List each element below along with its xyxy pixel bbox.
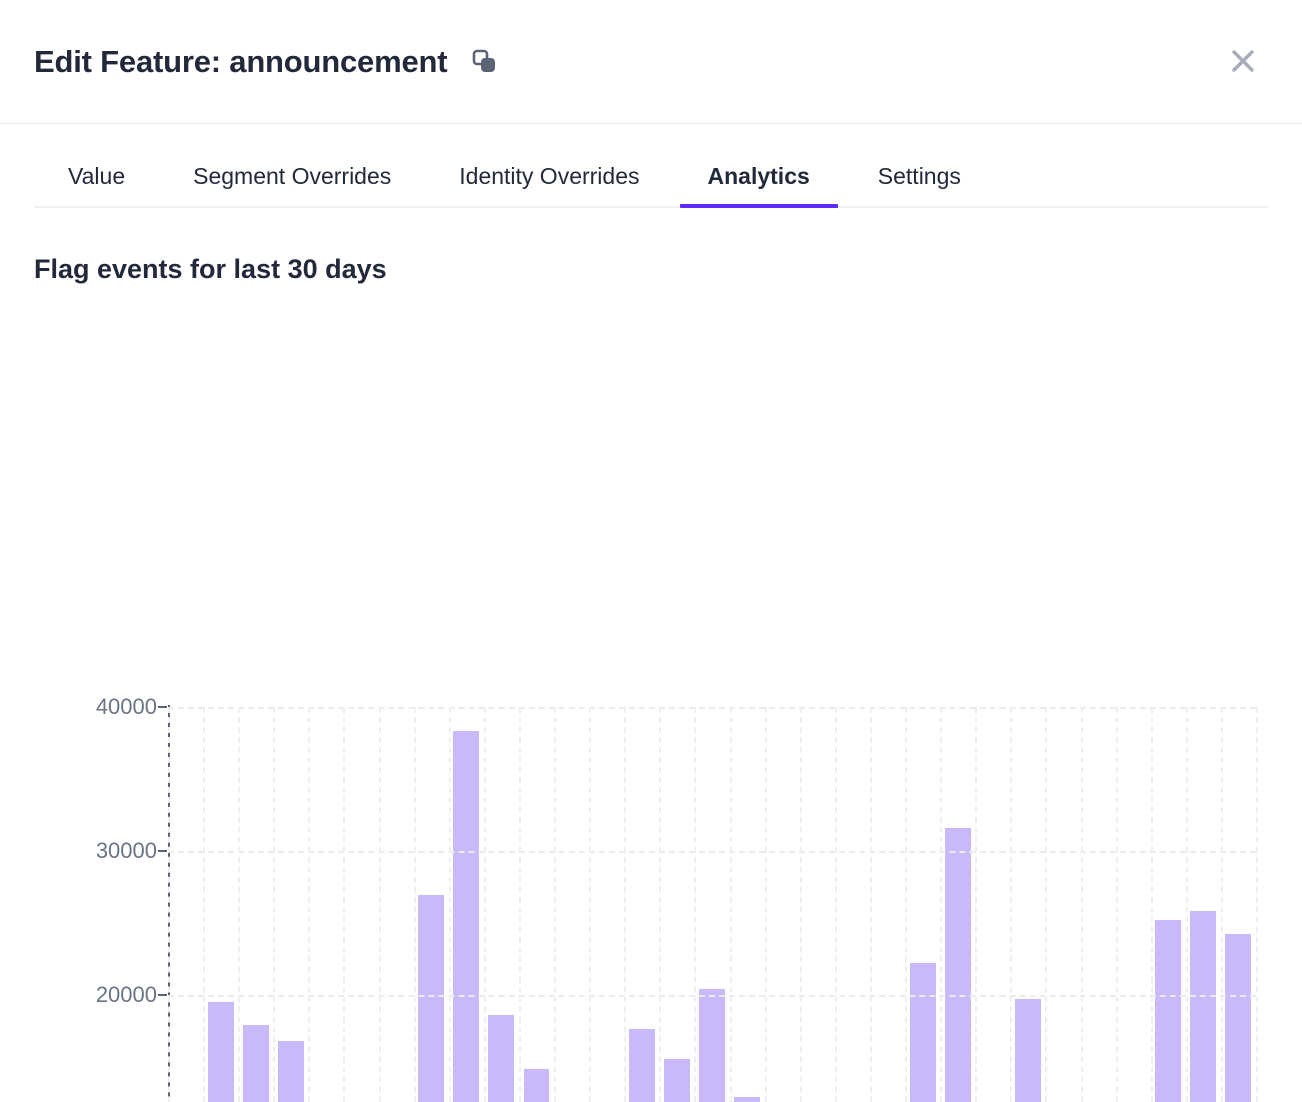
bar[interactable] — [1190, 911, 1216, 1102]
gridline-vertical — [554, 707, 556, 1102]
gridline-vertical — [203, 707, 205, 1102]
bar[interactable] — [734, 1097, 760, 1102]
gridline-vertical — [905, 707, 907, 1102]
bar[interactable] — [524, 1069, 550, 1102]
bar[interactable] — [699, 989, 725, 1102]
gridline-vertical — [659, 707, 661, 1102]
gridline-vertical — [1010, 707, 1012, 1102]
bar[interactable] — [418, 895, 444, 1102]
gridline-horizontal — [168, 851, 1256, 853]
y-axis-ticks: 010000200003000040000 — [0, 307, 158, 1102]
bar[interactable] — [208, 1002, 234, 1102]
tab-analytics[interactable]: Analytics — [674, 155, 844, 206]
bar[interactable] — [1155, 920, 1181, 1102]
bar[interactable] — [664, 1059, 690, 1102]
bar[interactable] — [278, 1041, 304, 1102]
close-icon[interactable] — [1222, 40, 1264, 82]
gridline-vertical — [870, 707, 872, 1102]
y-tick-mark — [158, 994, 167, 996]
bar-series — [168, 707, 1256, 1102]
flag-events-bar-chart: 010000200003000040000 10th Apr11th Apr12… — [0, 307, 1302, 1047]
y-tick-mark — [158, 706, 167, 708]
gridline-vertical — [238, 707, 240, 1102]
y-tick-label: 20000 — [96, 982, 157, 1008]
edit-feature-modal: Edit Feature: announcement Value Segment… — [0, 0, 1302, 1102]
bar[interactable] — [1015, 999, 1041, 1102]
tab-list: Value Segment Overrides Identity Overrid… — [34, 155, 1268, 208]
gridline-vertical — [1116, 707, 1118, 1102]
gridline-vertical — [484, 707, 486, 1102]
gridline-vertical — [589, 707, 591, 1102]
gridline-vertical — [379, 707, 381, 1102]
bar[interactable] — [453, 731, 479, 1102]
gridline-vertical — [624, 707, 626, 1102]
gridline-vertical — [343, 707, 345, 1102]
chart-title: Flag events for last 30 days — [34, 254, 1302, 285]
plot-area — [168, 707, 1256, 1102]
page-title: Edit Feature: announcement — [34, 44, 447, 80]
gridline-vertical — [975, 707, 977, 1102]
gridline-vertical — [414, 707, 416, 1102]
bar[interactable] — [910, 963, 936, 1102]
gridline-vertical — [835, 707, 837, 1102]
gridline-vertical — [694, 707, 696, 1102]
y-tick-label: 40000 — [96, 694, 157, 720]
gridline-vertical — [308, 707, 310, 1102]
gridline-horizontal — [168, 995, 1256, 997]
bar[interactable] — [243, 1025, 269, 1102]
gridline-vertical — [1081, 707, 1083, 1102]
gridline-vertical — [940, 707, 942, 1102]
gridline-vertical — [730, 707, 732, 1102]
gridline-vertical — [765, 707, 767, 1102]
tab-identity-overrides[interactable]: Identity Overrides — [425, 155, 673, 206]
tab-segment-overrides[interactable]: Segment Overrides — [159, 155, 425, 206]
y-tick-label: 30000 — [96, 838, 157, 864]
gridline-vertical — [449, 707, 451, 1102]
gridline-vertical — [800, 707, 802, 1102]
gridline-vertical — [1221, 707, 1223, 1102]
gridline-vertical — [168, 707, 170, 1102]
bar[interactable] — [1225, 934, 1251, 1102]
gridline-vertical — [519, 707, 521, 1102]
bar[interactable] — [629, 1029, 655, 1102]
modal-header: Edit Feature: announcement — [0, 0, 1302, 124]
bar[interactable] — [488, 1015, 514, 1102]
tab-settings[interactable]: Settings — [844, 155, 995, 206]
tabs-container: Value Segment Overrides Identity Overrid… — [0, 155, 1302, 208]
gridline-vertical — [1186, 707, 1188, 1102]
copy-icon[interactable] — [469, 47, 499, 77]
y-tick-mark — [158, 850, 167, 852]
gridline-vertical — [273, 707, 275, 1102]
gridline-vertical — [1151, 707, 1153, 1102]
gridline-horizontal — [168, 707, 1256, 709]
tab-value[interactable]: Value — [34, 155, 159, 206]
gridline-vertical — [1256, 707, 1258, 1102]
gridline-vertical — [1045, 707, 1047, 1102]
bar[interactable] — [945, 828, 971, 1102]
